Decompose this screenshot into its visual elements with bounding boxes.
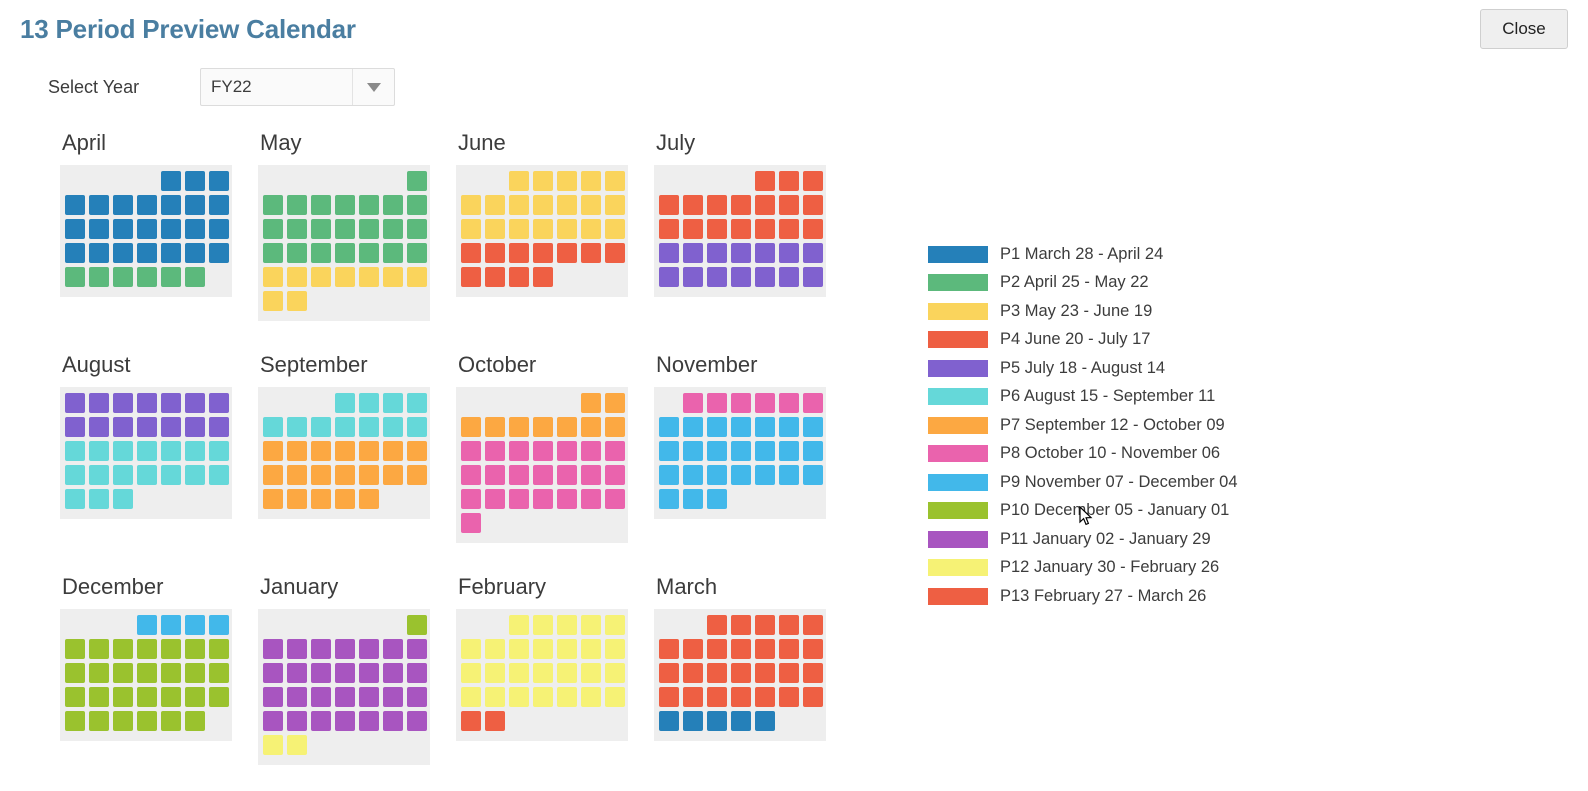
day-cell[interactable] [359, 393, 379, 413]
day-cell[interactable] [287, 663, 307, 683]
day-cell[interactable] [755, 687, 775, 707]
day-cell[interactable] [461, 195, 481, 215]
day-cell[interactable] [185, 615, 205, 635]
day-cell[interactable] [731, 663, 751, 683]
day-cell[interactable] [407, 417, 427, 437]
day-cell[interactable] [731, 711, 751, 731]
day-cell[interactable] [659, 711, 679, 731]
day-cell[interactable] [335, 267, 355, 287]
day-cell[interactable] [557, 171, 577, 191]
close-button[interactable]: Close [1480, 9, 1568, 49]
day-cell[interactable] [263, 465, 283, 485]
day-cell[interactable] [407, 711, 427, 731]
day-cell[interactable] [461, 711, 481, 731]
day-cell[interactable] [209, 687, 229, 707]
day-cell[interactable] [557, 195, 577, 215]
day-cell[interactable] [533, 465, 553, 485]
day-cell[interactable] [707, 417, 727, 437]
day-cell[interactable] [557, 489, 577, 509]
day-cell[interactable] [659, 441, 679, 461]
day-cell[interactable] [707, 465, 727, 485]
day-cell[interactable] [731, 243, 751, 263]
day-cell[interactable] [461, 639, 481, 659]
day-cell[interactable] [659, 243, 679, 263]
day-cell[interactable] [755, 243, 775, 263]
day-cell[interactable] [803, 393, 823, 413]
day-cell[interactable] [605, 441, 625, 461]
day-cell[interactable] [185, 663, 205, 683]
day-cell[interactable] [533, 267, 553, 287]
day-cell[interactable] [185, 219, 205, 239]
day-cell[interactable] [383, 417, 403, 437]
day-cell[interactable] [683, 639, 703, 659]
day-cell[interactable] [683, 417, 703, 437]
day-cell[interactable] [533, 441, 553, 461]
day-cell[interactable] [731, 195, 751, 215]
day-cell[interactable] [557, 441, 577, 461]
day-cell[interactable] [113, 711, 133, 731]
day-cell[interactable] [89, 663, 109, 683]
day-cell[interactable] [659, 489, 679, 509]
day-cell[interactable] [287, 243, 307, 263]
day-cell[interactable] [359, 465, 379, 485]
day-cell[interactable] [137, 663, 157, 683]
day-cell[interactable] [65, 393, 85, 413]
day-cell[interactable] [707, 615, 727, 635]
day-cell[interactable] [731, 267, 751, 287]
day-cell[interactable] [263, 291, 283, 311]
day-cell[interactable] [779, 687, 799, 707]
day-cell[interactable] [209, 441, 229, 461]
day-cell[interactable] [335, 219, 355, 239]
day-cell[interactable] [287, 441, 307, 461]
day-cell[interactable] [533, 417, 553, 437]
day-cell[interactable] [137, 195, 157, 215]
day-cell[interactable] [707, 393, 727, 413]
day-cell[interactable] [311, 663, 331, 683]
day-cell[interactable] [359, 417, 379, 437]
day-cell[interactable] [707, 267, 727, 287]
day-cell[interactable] [311, 687, 331, 707]
day-cell[interactable] [161, 615, 181, 635]
day-cell[interactable] [185, 243, 205, 263]
day-cell[interactable] [407, 639, 427, 659]
day-cell[interactable] [659, 417, 679, 437]
day-cell[interactable] [137, 267, 157, 287]
day-cell[interactable] [383, 195, 403, 215]
day-cell[interactable] [335, 687, 355, 707]
day-cell[interactable] [581, 465, 601, 485]
day-cell[interactable] [335, 711, 355, 731]
day-cell[interactable] [707, 195, 727, 215]
day-cell[interactable] [383, 639, 403, 659]
day-cell[interactable] [731, 639, 751, 659]
day-cell[interactable] [509, 243, 529, 263]
day-cell[interactable] [185, 711, 205, 731]
day-cell[interactable] [557, 663, 577, 683]
day-cell[interactable] [605, 417, 625, 437]
day-cell[interactable] [311, 195, 331, 215]
day-cell[interactable] [509, 639, 529, 659]
day-cell[interactable] [683, 195, 703, 215]
day-cell[interactable] [185, 441, 205, 461]
day-cell[interactable] [755, 441, 775, 461]
day-cell[interactable] [581, 417, 601, 437]
day-cell[interactable] [383, 687, 403, 707]
day-cell[interactable] [263, 267, 283, 287]
day-cell[interactable] [461, 219, 481, 239]
day-cell[interactable] [137, 711, 157, 731]
day-cell[interactable] [137, 219, 157, 239]
day-cell[interactable] [659, 219, 679, 239]
day-cell[interactable] [605, 219, 625, 239]
day-cell[interactable] [461, 441, 481, 461]
day-cell[interactable] [485, 687, 505, 707]
day-cell[interactable] [383, 441, 403, 461]
day-cell[interactable] [581, 639, 601, 659]
day-cell[interactable] [65, 489, 85, 509]
day-cell[interactable] [557, 219, 577, 239]
day-cell[interactable] [683, 243, 703, 263]
day-cell[interactable] [509, 615, 529, 635]
day-cell[interactable] [605, 687, 625, 707]
day-cell[interactable] [89, 465, 109, 485]
day-cell[interactable] [509, 663, 529, 683]
day-cell[interactable] [485, 441, 505, 461]
day-cell[interactable] [779, 243, 799, 263]
day-cell[interactable] [161, 465, 181, 485]
day-cell[interactable] [335, 465, 355, 485]
day-cell[interactable] [659, 465, 679, 485]
day-cell[interactable] [161, 687, 181, 707]
day-cell[interactable] [659, 195, 679, 215]
day-cell[interactable] [185, 465, 205, 485]
day-cell[interactable] [113, 243, 133, 263]
day-cell[interactable] [65, 243, 85, 263]
day-cell[interactable] [137, 417, 157, 437]
day-cell[interactable] [731, 417, 751, 437]
day-cell[interactable] [335, 663, 355, 683]
day-cell[interactable] [161, 195, 181, 215]
day-cell[interactable] [707, 639, 727, 659]
day-cell[interactable] [89, 243, 109, 263]
day-cell[interactable] [659, 267, 679, 287]
day-cell[interactable] [311, 639, 331, 659]
day-cell[interactable] [683, 711, 703, 731]
day-cell[interactable] [383, 663, 403, 683]
day-cell[interactable] [485, 195, 505, 215]
day-cell[interactable] [707, 687, 727, 707]
day-cell[interactable] [755, 615, 775, 635]
day-cell[interactable] [533, 687, 553, 707]
day-cell[interactable] [287, 639, 307, 659]
day-cell[interactable] [509, 219, 529, 239]
day-cell[interactable] [137, 393, 157, 413]
day-cell[interactable] [659, 687, 679, 707]
day-cell[interactable] [335, 639, 355, 659]
day-cell[interactable] [161, 267, 181, 287]
day-cell[interactable] [779, 639, 799, 659]
day-cell[interactable] [461, 417, 481, 437]
day-cell[interactable] [263, 243, 283, 263]
day-cell[interactable] [581, 195, 601, 215]
day-cell[interactable] [383, 219, 403, 239]
day-cell[interactable] [407, 663, 427, 683]
day-cell[interactable] [407, 465, 427, 485]
day-cell[interactable] [359, 441, 379, 461]
day-cell[interactable] [185, 171, 205, 191]
day-cell[interactable] [731, 393, 751, 413]
day-cell[interactable] [89, 195, 109, 215]
day-cell[interactable] [311, 489, 331, 509]
day-cell[interactable] [65, 465, 85, 485]
day-cell[interactable] [557, 243, 577, 263]
day-cell[interactable] [113, 639, 133, 659]
day-cell[interactable] [359, 219, 379, 239]
day-cell[interactable] [65, 441, 85, 461]
day-cell[interactable] [509, 267, 529, 287]
day-cell[interactable] [359, 489, 379, 509]
day-cell[interactable] [383, 393, 403, 413]
day-cell[interactable] [581, 393, 601, 413]
day-cell[interactable] [803, 243, 823, 263]
day-cell[interactable] [755, 171, 775, 191]
day-cell[interactable] [779, 441, 799, 461]
day-cell[interactable] [287, 735, 307, 755]
day-cell[interactable] [263, 639, 283, 659]
day-cell[interactable] [407, 219, 427, 239]
day-cell[interactable] [335, 393, 355, 413]
day-cell[interactable] [89, 441, 109, 461]
day-cell[interactable] [779, 615, 799, 635]
day-cell[interactable] [113, 267, 133, 287]
day-cell[interactable] [209, 663, 229, 683]
day-cell[interactable] [581, 687, 601, 707]
day-cell[interactable] [335, 489, 355, 509]
day-cell[interactable] [461, 663, 481, 683]
day-cell[interactable] [533, 219, 553, 239]
day-cell[interactable] [359, 195, 379, 215]
day-cell[interactable] [485, 243, 505, 263]
day-cell[interactable] [581, 441, 601, 461]
day-cell[interactable] [65, 267, 85, 287]
day-cell[interactable] [263, 663, 283, 683]
day-cell[interactable] [581, 171, 601, 191]
day-cell[interactable] [287, 291, 307, 311]
day-cell[interactable] [359, 243, 379, 263]
day-cell[interactable] [65, 687, 85, 707]
day-cell[interactable] [287, 687, 307, 707]
day-cell[interactable] [161, 219, 181, 239]
day-cell[interactable] [137, 615, 157, 635]
day-cell[interactable] [407, 615, 427, 635]
day-cell[interactable] [779, 465, 799, 485]
day-cell[interactable] [209, 639, 229, 659]
day-cell[interactable] [209, 615, 229, 635]
day-cell[interactable] [461, 687, 481, 707]
day-cell[interactable] [263, 219, 283, 239]
day-cell[interactable] [803, 663, 823, 683]
day-cell[interactable] [581, 615, 601, 635]
day-cell[interactable] [113, 417, 133, 437]
day-cell[interactable] [311, 219, 331, 239]
day-cell[interactable] [533, 243, 553, 263]
day-cell[interactable] [605, 195, 625, 215]
day-cell[interactable] [731, 465, 751, 485]
day-cell[interactable] [335, 195, 355, 215]
day-cell[interactable] [557, 639, 577, 659]
day-cell[interactable] [485, 639, 505, 659]
day-cell[interactable] [581, 663, 601, 683]
day-cell[interactable] [509, 489, 529, 509]
day-cell[interactable] [509, 417, 529, 437]
day-cell[interactable] [311, 243, 331, 263]
day-cell[interactable] [287, 417, 307, 437]
day-cell[interactable] [533, 171, 553, 191]
day-cell[interactable] [605, 465, 625, 485]
day-cell[interactable] [209, 465, 229, 485]
day-cell[interactable] [755, 639, 775, 659]
day-cell[interactable] [161, 171, 181, 191]
day-cell[interactable] [485, 711, 505, 731]
day-cell[interactable] [287, 195, 307, 215]
day-cell[interactable] [161, 417, 181, 437]
day-cell[interactable] [407, 243, 427, 263]
day-cell[interactable] [113, 687, 133, 707]
day-cell[interactable] [263, 195, 283, 215]
day-cell[interactable] [407, 171, 427, 191]
day-cell[interactable] [533, 195, 553, 215]
day-cell[interactable] [311, 417, 331, 437]
day-cell[interactable] [287, 267, 307, 287]
day-cell[interactable] [209, 171, 229, 191]
day-cell[interactable] [509, 171, 529, 191]
day-cell[interactable] [113, 441, 133, 461]
day-cell[interactable] [485, 465, 505, 485]
day-cell[interactable] [137, 243, 157, 263]
day-cell[interactable] [659, 663, 679, 683]
day-cell[interactable] [683, 489, 703, 509]
day-cell[interactable] [209, 243, 229, 263]
day-cell[interactable] [89, 687, 109, 707]
day-cell[interactable] [359, 267, 379, 287]
day-cell[interactable] [383, 711, 403, 731]
day-cell[interactable] [755, 711, 775, 731]
day-cell[interactable] [485, 267, 505, 287]
day-cell[interactable] [803, 639, 823, 659]
day-cell[interactable] [311, 465, 331, 485]
day-cell[interactable] [683, 267, 703, 287]
day-cell[interactable] [461, 513, 481, 533]
day-cell[interactable] [533, 615, 553, 635]
day-cell[interactable] [707, 243, 727, 263]
day-cell[interactable] [485, 663, 505, 683]
day-cell[interactable] [335, 243, 355, 263]
day-cell[interactable] [263, 735, 283, 755]
day-cell[interactable] [407, 267, 427, 287]
day-cell[interactable] [89, 639, 109, 659]
day-cell[interactable] [605, 243, 625, 263]
day-cell[interactable] [659, 639, 679, 659]
day-cell[interactable] [461, 267, 481, 287]
day-cell[interactable] [683, 219, 703, 239]
day-cell[interactable] [137, 465, 157, 485]
day-cell[interactable] [731, 615, 751, 635]
day-cell[interactable] [755, 267, 775, 287]
day-cell[interactable] [65, 711, 85, 731]
day-cell[interactable] [509, 441, 529, 461]
day-cell[interactable] [161, 663, 181, 683]
day-cell[interactable] [287, 219, 307, 239]
day-cell[interactable] [605, 489, 625, 509]
day-cell[interactable] [533, 663, 553, 683]
day-cell[interactable] [161, 393, 181, 413]
day-cell[interactable] [89, 267, 109, 287]
day-cell[interactable] [509, 687, 529, 707]
day-cell[interactable] [383, 267, 403, 287]
day-cell[interactable] [263, 417, 283, 437]
day-cell[interactable] [779, 393, 799, 413]
day-cell[interactable] [755, 219, 775, 239]
day-cell[interactable] [461, 489, 481, 509]
day-cell[interactable] [65, 639, 85, 659]
day-cell[interactable] [803, 441, 823, 461]
select-year-dropdown[interactable]: FY22 [200, 68, 395, 106]
day-cell[interactable] [311, 267, 331, 287]
day-cell[interactable] [707, 489, 727, 509]
day-cell[interactable] [89, 393, 109, 413]
day-cell[interactable] [605, 639, 625, 659]
day-cell[interactable] [263, 711, 283, 731]
day-cell[interactable] [509, 465, 529, 485]
day-cell[interactable] [407, 441, 427, 461]
day-cell[interactable] [779, 171, 799, 191]
day-cell[interactable] [113, 663, 133, 683]
day-cell[interactable] [185, 393, 205, 413]
day-cell[interactable] [707, 663, 727, 683]
day-cell[interactable] [683, 687, 703, 707]
day-cell[interactable] [755, 465, 775, 485]
day-cell[interactable] [557, 465, 577, 485]
day-cell[interactable] [359, 639, 379, 659]
day-cell[interactable] [137, 441, 157, 461]
day-cell[interactable] [263, 489, 283, 509]
day-cell[interactable] [335, 441, 355, 461]
day-cell[interactable] [89, 417, 109, 437]
day-cell[interactable] [461, 465, 481, 485]
day-cell[interactable] [581, 489, 601, 509]
day-cell[interactable] [803, 195, 823, 215]
day-cell[interactable] [65, 219, 85, 239]
day-cell[interactable] [707, 711, 727, 731]
day-cell[interactable] [161, 441, 181, 461]
day-cell[interactable] [65, 195, 85, 215]
day-cell[interactable] [407, 393, 427, 413]
day-cell[interactable] [485, 489, 505, 509]
day-cell[interactable] [755, 393, 775, 413]
day-cell[interactable] [407, 687, 427, 707]
day-cell[interactable] [731, 687, 751, 707]
day-cell[interactable] [359, 663, 379, 683]
day-cell[interactable] [485, 417, 505, 437]
day-cell[interactable] [65, 417, 85, 437]
day-cell[interactable] [557, 615, 577, 635]
day-cell[interactable] [683, 465, 703, 485]
day-cell[interactable] [803, 687, 823, 707]
day-cell[interactable] [605, 393, 625, 413]
day-cell[interactable] [605, 171, 625, 191]
day-cell[interactable] [383, 243, 403, 263]
